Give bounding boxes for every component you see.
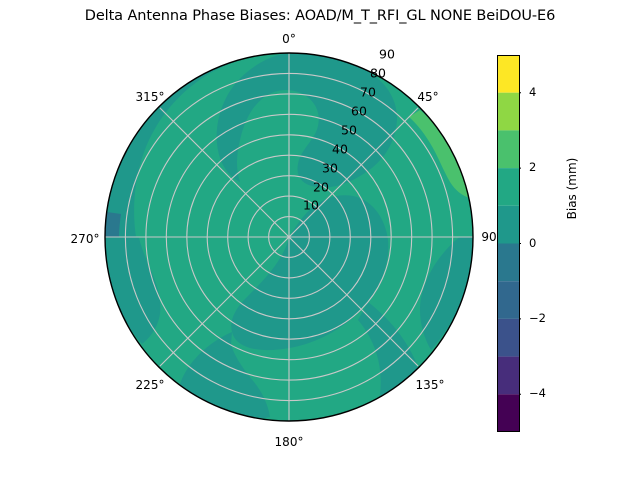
radial-label-20: 20 [313, 180, 329, 195]
azimuth-label-270: 270° [71, 232, 100, 246]
azimuth-label-315: 315° [136, 90, 165, 104]
radial-label-10: 10 [303, 198, 319, 213]
radial-label-80: 80 [370, 66, 386, 81]
radial-label-50: 50 [341, 123, 357, 138]
polar-plot: 0° 45° 90 135° 180° 225° 270° 315° 10 20… [0, 0, 520, 480]
colorbar-band-m3-m2 [497, 319, 520, 357]
azimuth-label-90: 90 [481, 230, 496, 244]
colorbar-tick-label-m2: −2 [529, 311, 546, 325]
colorbar-band-1-2 [497, 168, 520, 206]
colorbar-band-4-5 [497, 55, 520, 93]
colorbar-band-3-4 [497, 93, 520, 131]
radial-label-70: 70 [360, 85, 376, 100]
colorbar-tick-label-m4: −4 [529, 386, 546, 400]
colorbar-band-m1-0 [497, 244, 520, 282]
radial-label-60: 60 [351, 104, 367, 119]
azimuth-label-0: 0° [282, 32, 296, 46]
colorbar-band-m5-m4 [497, 394, 520, 432]
radial-label-30: 30 [322, 161, 338, 176]
colorbar-tick-label-2: 2 [529, 160, 536, 174]
colorbar-band-m4-m3 [497, 357, 520, 395]
colorbar-tick-label-0: 0 [529, 236, 536, 250]
radial-label-40: 40 [332, 142, 348, 157]
polar-grid-spokes [105, 53, 473, 421]
radial-label-90: 90 [379, 47, 395, 62]
colorbar-bands [497, 55, 520, 432]
colorbar-axis-label: Bias (mm) [560, 0, 584, 377]
azimuth-label-45: 45° [417, 90, 438, 104]
colorbar-band-m2-m1 [497, 281, 520, 319]
colorbar-ticks [520, 93, 521, 395]
azimuth-label-225: 225° [136, 378, 165, 392]
contour-band-darkblue-west-sliver [105, 212, 121, 237]
azimuth-label-135: 135° [416, 378, 445, 392]
colorbar: 4 2 0 −2 −4 [497, 55, 521, 432]
colorbar-svg [497, 55, 521, 432]
figure-canvas: Delta Antenna Phase Biases: AOAD/M_T_RFI… [0, 0, 640, 480]
colorbar-band-2-3 [497, 130, 520, 168]
colorbar-band-0-1 [497, 206, 520, 244]
colorbar-tick-label-4: 4 [529, 85, 536, 99]
azimuth-label-180: 180° [275, 435, 304, 449]
